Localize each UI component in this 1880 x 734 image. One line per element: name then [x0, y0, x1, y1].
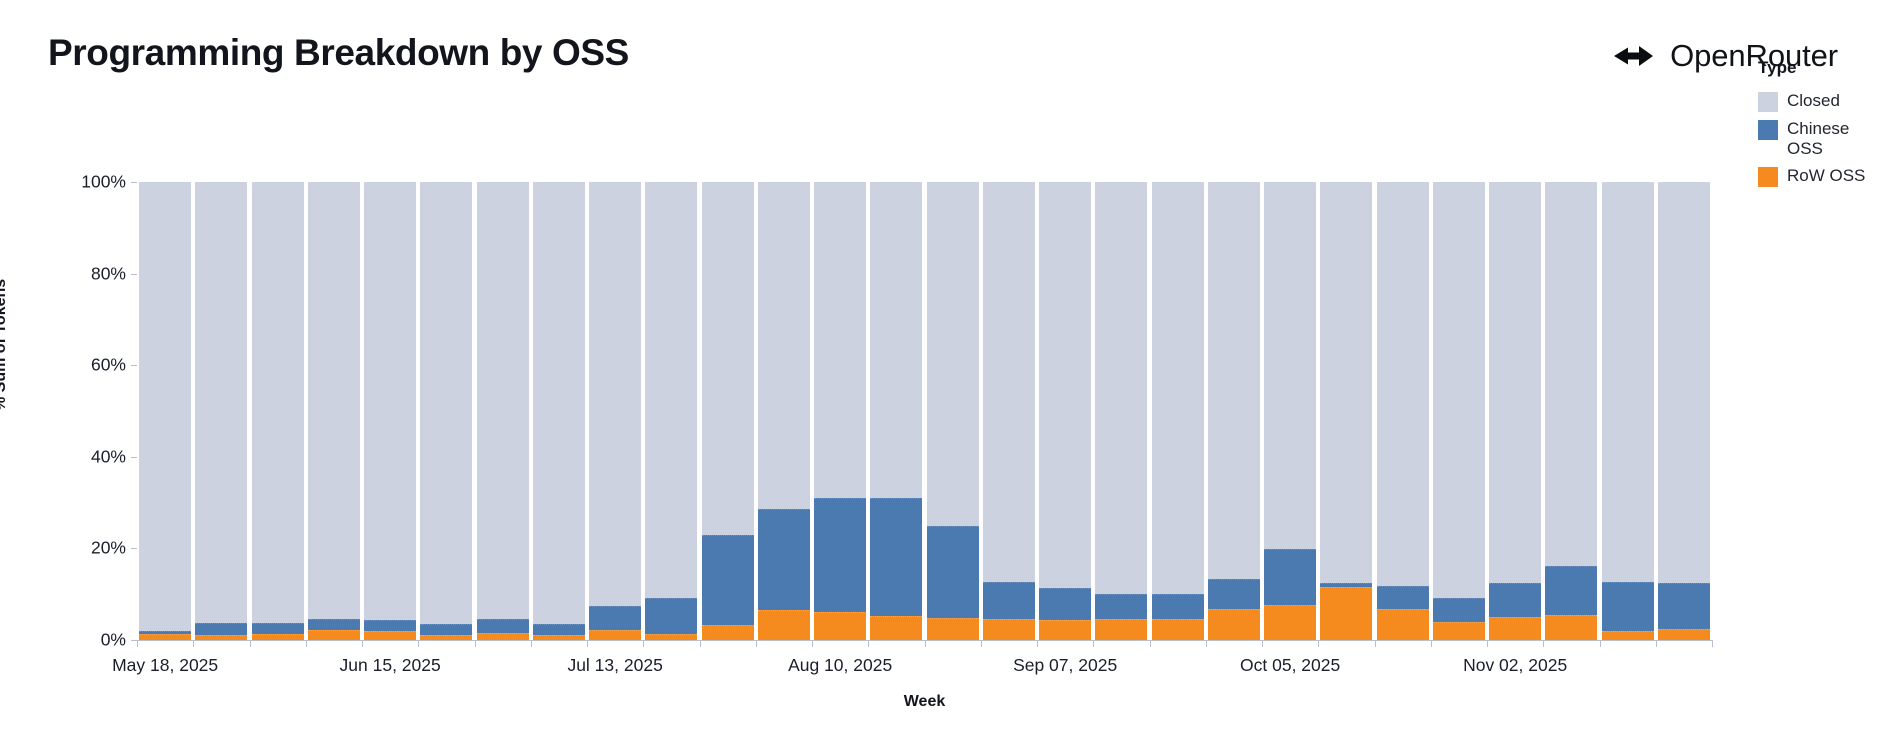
bar-segment-closed[interactable] — [1377, 182, 1429, 586]
x-axis-tick-mark — [756, 640, 757, 647]
bar-segment-closed[interactable] — [477, 182, 529, 619]
page-header: Programming Breakdown by OSS OpenRouter — [0, 0, 1880, 110]
x-axis-tick-mark — [418, 640, 419, 647]
plot-area — [137, 182, 1712, 640]
y-axis-tick-label: 40% — [6, 446, 126, 467]
bar-column[interactable] — [475, 182, 531, 640]
bar-column[interactable] — [1375, 182, 1431, 640]
bar-column[interactable] — [1600, 182, 1656, 640]
bar-segment-chinese-oss[interactable] — [927, 526, 979, 618]
legend-item-label: Chinese OSS — [1787, 119, 1880, 159]
bar-column[interactable] — [1431, 182, 1487, 640]
bar-segment-closed[interactable] — [589, 182, 641, 606]
bar-segment-closed[interactable] — [758, 182, 810, 509]
bar-column[interactable] — [306, 182, 362, 640]
bar-column[interactable] — [868, 182, 924, 640]
bar-column[interactable] — [587, 182, 643, 640]
bar-segment-closed[interactable] — [1602, 182, 1654, 582]
x-axis-tick-label: Jun 15, 2025 — [340, 655, 441, 676]
x-axis-tick-label: Sep 07, 2025 — [1013, 655, 1117, 676]
bar-segment-closed[interactable] — [1489, 182, 1541, 583]
x-axis-tick-mark — [362, 640, 363, 647]
bar-column[interactable] — [1318, 182, 1374, 640]
bar-segment-row-oss[interactable] — [1320, 587, 1372, 640]
bar-segment-row-oss[interactable] — [1489, 617, 1541, 640]
bar-column[interactable] — [981, 182, 1037, 640]
chart-container: % Sum of Tokens Week 0%20%40%60%80%100% … — [0, 110, 1880, 734]
bar-column[interactable] — [643, 182, 699, 640]
x-axis-tick-mark — [1543, 640, 1544, 647]
bar-column[interactable] — [531, 182, 587, 640]
x-axis-tick-mark — [587, 640, 588, 647]
legend-title: Type — [1758, 58, 1880, 78]
bar-column[interactable] — [1543, 182, 1599, 640]
x-axis-tick-label: Aug 10, 2025 — [788, 655, 892, 676]
legend-item[interactable]: Closed — [1758, 91, 1880, 112]
bar-segment-row-oss[interactable] — [758, 610, 810, 640]
x-axis-tick-mark — [1150, 640, 1151, 647]
bar-segment-closed[interactable] — [927, 182, 979, 526]
x-axis-tick-mark — [1375, 640, 1376, 647]
bar-segment-chinese-oss[interactable] — [1264, 549, 1316, 605]
bar-series-group — [137, 182, 1712, 640]
bar-segment-row-oss[interactable] — [364, 631, 416, 640]
bar-segment-row-oss[interactable] — [589, 630, 641, 640]
bar-column[interactable] — [1037, 182, 1093, 640]
bar-segment-chinese-oss[interactable] — [252, 623, 304, 634]
bar-segment-closed[interactable] — [983, 182, 1035, 582]
x-axis-tick-label: May 18, 2025 — [112, 655, 218, 676]
x-axis-tick-mark — [1431, 640, 1432, 647]
bar-segment-chinese-oss[interactable] — [758, 509, 810, 609]
bar-segment-chinese-oss[interactable] — [1377, 586, 1429, 609]
bar-segment-row-oss[interactable] — [1658, 629, 1710, 640]
bar-segment-chinese-oss[interactable] — [533, 624, 585, 635]
bar-segment-chinese-oss[interactable] — [420, 624, 472, 634]
bar-segment-chinese-oss[interactable] — [477, 619, 529, 633]
bar-segment-closed[interactable] — [1433, 182, 1485, 598]
bar-segment-closed[interactable] — [1152, 182, 1204, 594]
bar-segment-closed[interactable] — [1658, 182, 1710, 583]
bar-segment-chinese-oss[interactable] — [1489, 583, 1541, 617]
bar-segment-chinese-oss[interactable] — [1602, 582, 1654, 631]
bar-segment-closed[interactable] — [1264, 182, 1316, 549]
x-axis-tick-mark — [1037, 640, 1038, 647]
bar-column[interactable] — [1093, 182, 1149, 640]
bar-segment-chinese-oss[interactable] — [308, 619, 360, 630]
bar-segment-chinese-oss[interactable] — [645, 598, 697, 634]
bar-column[interactable] — [925, 182, 981, 640]
bar-segment-row-oss[interactable] — [702, 625, 754, 640]
legend-items: ClosedChinese OSSRoW OSS — [1758, 91, 1880, 187]
x-axis-tick-mark — [250, 640, 251, 647]
x-axis-tick-mark — [1318, 640, 1319, 647]
bar-segment-row-oss[interactable] — [308, 630, 360, 640]
page-title: Programming Breakdown by OSS — [48, 32, 629, 74]
bar-segment-closed[interactable] — [420, 182, 472, 624]
x-axis-tick-mark — [1487, 640, 1488, 647]
bar-segment-chinese-oss[interactable] — [1545, 566, 1597, 615]
bar-segment-closed[interactable] — [364, 182, 416, 620]
bar-segment-row-oss[interactable] — [1095, 619, 1147, 640]
legend-swatch-icon — [1758, 167, 1778, 187]
bar-segment-closed[interactable] — [814, 182, 866, 498]
x-axis-title: Week — [137, 693, 1712, 711]
bar-segment-chinese-oss[interactable] — [1039, 588, 1091, 620]
bar-column[interactable] — [812, 182, 868, 640]
x-axis-tick-label: Oct 05, 2025 — [1240, 655, 1340, 676]
bar-segment-chinese-oss[interactable] — [364, 620, 416, 631]
bar-column[interactable] — [1487, 182, 1543, 640]
y-axis-tick-label: 0% — [6, 630, 126, 651]
bar-column[interactable] — [700, 182, 756, 640]
bar-segment-row-oss[interactable] — [1433, 622, 1485, 640]
y-axis-tick-label: 20% — [6, 538, 126, 559]
legend-item-label: RoW OSS — [1787, 166, 1865, 186]
bar-segment-closed[interactable] — [870, 182, 922, 498]
x-axis-tick-mark — [643, 640, 644, 647]
bar-segment-closed[interactable] — [1039, 182, 1091, 588]
bar-segment-closed[interactable] — [1208, 182, 1260, 579]
bar-segment-chinese-oss[interactable] — [589, 606, 641, 631]
bar-column[interactable] — [250, 182, 306, 640]
bar-segment-closed[interactable] — [533, 182, 585, 624]
bar-column[interactable] — [1262, 182, 1318, 640]
legend-swatch-icon — [1758, 92, 1778, 112]
bar-column[interactable] — [193, 182, 249, 640]
bar-segment-closed[interactable] — [139, 182, 191, 631]
x-axis-tick-mark — [868, 640, 869, 647]
bar-segment-closed[interactable] — [252, 182, 304, 623]
bar-segment-closed[interactable] — [645, 182, 697, 598]
bar-segment-closed[interactable] — [1320, 182, 1372, 583]
bar-segment-row-oss[interactable] — [983, 619, 1035, 640]
bar-segment-row-oss[interactable] — [1377, 609, 1429, 640]
bar-column[interactable] — [137, 182, 193, 640]
bar-segment-chinese-oss[interactable] — [814, 498, 866, 611]
x-axis-tick-mark — [193, 640, 194, 647]
x-axis-tick-mark — [475, 640, 476, 647]
x-axis-tick-mark — [1712, 640, 1713, 647]
y-axis-tick-label: 80% — [6, 263, 126, 284]
bar-segment-chinese-oss[interactable] — [1152, 594, 1204, 619]
x-axis-tick-mark — [925, 640, 926, 647]
bar-segment-closed[interactable] — [1545, 182, 1597, 566]
bar-segment-chinese-oss[interactable] — [1658, 583, 1710, 628]
bar-segment-row-oss[interactable] — [1264, 605, 1316, 640]
bar-segment-row-oss[interactable] — [1545, 615, 1597, 640]
bar-segment-chinese-oss[interactable] — [195, 623, 247, 635]
y-axis-tick-label: 100% — [6, 172, 126, 193]
bar-column[interactable] — [362, 182, 418, 640]
bar-column[interactable] — [756, 182, 812, 640]
legend-item[interactable]: RoW OSS — [1758, 166, 1880, 187]
bar-segment-row-oss[interactable] — [1152, 619, 1204, 640]
bar-segment-closed[interactable] — [1095, 182, 1147, 594]
bar-column[interactable] — [1150, 182, 1206, 640]
x-axis-tick-label: Nov 02, 2025 — [1463, 655, 1567, 676]
x-axis-tick-mark — [812, 640, 813, 647]
x-axis-tick-mark — [1093, 640, 1094, 647]
legend: Type ClosedChinese OSSRoW OSS — [1758, 58, 1880, 194]
legend-item[interactable]: Chinese OSS — [1758, 119, 1880, 159]
bar-segment-row-oss[interactable] — [477, 633, 529, 640]
x-axis-tick-label: Jul 13, 2025 — [567, 655, 662, 676]
bar-segment-row-oss[interactable] — [1602, 631, 1654, 640]
legend-swatch-icon — [1758, 120, 1778, 140]
bar-segment-chinese-oss[interactable] — [1208, 579, 1260, 609]
x-axis-tick-mark — [306, 640, 307, 647]
bar-segment-row-oss[interactable] — [1039, 620, 1091, 640]
x-axis-tick-mark — [1600, 640, 1601, 647]
bar-column[interactable] — [1206, 182, 1262, 640]
bar-segment-row-oss[interactable] — [814, 612, 866, 640]
y-axis-title: % Sum of Tokens — [0, 279, 10, 411]
x-axis-tick-mark — [531, 640, 532, 647]
bar-segment-row-oss[interactable] — [1208, 609, 1260, 640]
x-axis-tick-mark — [1206, 640, 1207, 647]
bar-segment-closed[interactable] — [195, 182, 247, 623]
x-axis-tick-mark — [700, 640, 701, 647]
bar-segment-chinese-oss[interactable] — [870, 498, 922, 617]
x-axis-tick-mark — [137, 640, 138, 647]
bar-segment-chinese-oss[interactable] — [1433, 598, 1485, 622]
x-axis-tick-mark — [1656, 640, 1657, 647]
bar-column[interactable] — [1656, 182, 1712, 640]
y-axis-tick-label: 60% — [6, 355, 126, 376]
bar-segment-closed[interactable] — [308, 182, 360, 619]
x-axis-tick-mark — [981, 640, 982, 647]
bar-segment-chinese-oss[interactable] — [983, 582, 1035, 619]
bar-segment-row-oss[interactable] — [927, 618, 979, 640]
bar-segment-chinese-oss[interactable] — [702, 535, 754, 625]
x-axis-tick-mark — [1262, 640, 1263, 647]
bar-segment-row-oss[interactable] — [870, 616, 922, 640]
bar-segment-chinese-oss[interactable] — [1095, 594, 1147, 619]
openrouter-logo-icon — [1612, 36, 1656, 76]
bar-segment-closed[interactable] — [702, 182, 754, 535]
bar-column[interactable] — [418, 182, 474, 640]
legend-item-label: Closed — [1787, 91, 1840, 111]
